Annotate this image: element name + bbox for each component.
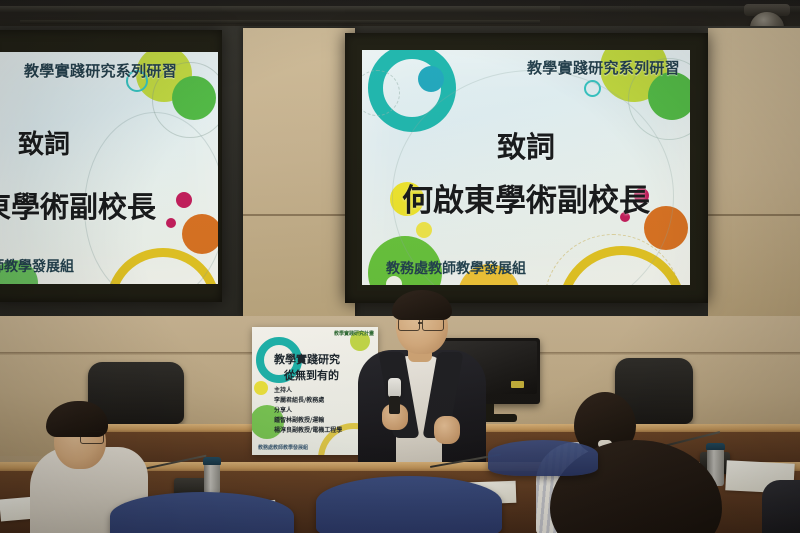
projection-screen-main: 教學實踐研究系列研習 致詞 何啟東學術副校長 教務處教師教學發展組 bbox=[345, 33, 708, 303]
monitor-badge-icon bbox=[511, 381, 524, 388]
slide-left: 教學實踐研究系列研習 致詞 東學術副校長 師教學發展組 bbox=[0, 52, 218, 284]
thermos-left-cap bbox=[203, 457, 221, 465]
slide-main-footer: 教務處教師教學發展組 bbox=[386, 258, 526, 278]
banner-title-line1: 教學實踐研究 bbox=[274, 351, 340, 367]
pillar-seam bbox=[243, 214, 355, 216]
audience-chair-blue-back bbox=[488, 440, 598, 476]
projection-screen-left: 教學實踐研究系列研習 致詞 東學術副校長 師教學發展組 bbox=[0, 30, 222, 302]
banner-body-line-3: 鍾智林副教授/運輸 bbox=[274, 415, 324, 424]
audience-chair-blue-left bbox=[110, 492, 294, 533]
banner-body-line-1: 李麗君組長/教務處 bbox=[274, 395, 324, 404]
wall-pillar-center bbox=[243, 28, 355, 316]
speaker-glasses-left bbox=[398, 318, 420, 331]
deco-circle-teal bbox=[418, 66, 444, 92]
speaker-figure bbox=[352, 282, 492, 487]
banner-deco-circle-yellow bbox=[254, 381, 268, 395]
thermos-left bbox=[204, 462, 220, 494]
lecture-hall-photo: 教學實踐研究系列研習 致詞 東學術副校長 師教學發展組 bbox=[0, 0, 800, 533]
attendee-far-right-shoulder bbox=[762, 480, 800, 533]
slide-main-line2: 何啟東學術副校長 bbox=[362, 175, 690, 220]
slide-main-header: 教學實踐研究系列研習 bbox=[527, 57, 680, 78]
audience-chair-blue-center bbox=[316, 476, 502, 533]
slide-main: 教學實踐研究系列研習 致詞 何啟東學術副校長 教務處教師教學發展組 bbox=[362, 50, 690, 285]
ceiling-rail bbox=[0, 6, 560, 13]
speaker-hand-right bbox=[434, 416, 460, 444]
banner-title-line2: 從無到有的 bbox=[284, 367, 339, 383]
speaker-glasses-right bbox=[422, 318, 444, 331]
handheld-microphone bbox=[388, 378, 401, 398]
attendee-left-glasses bbox=[80, 431, 104, 444]
banner-body-line-2: 分享人 bbox=[274, 405, 292, 414]
speaker-hair bbox=[392, 290, 452, 320]
slide-left-header: 教學實踐研究系列研習 bbox=[24, 60, 177, 81]
banner-body-line-0: 主持人 bbox=[274, 385, 292, 394]
banner-body-line-4: 楊淳良副教授/電機工程學 bbox=[274, 425, 342, 434]
slide-left-line1: 致詞 bbox=[18, 124, 70, 161]
slide-main-line1: 致詞 bbox=[362, 124, 690, 166]
speaker-glasses-bridge bbox=[418, 322, 422, 324]
slide-left-footer: 師教學發展組 bbox=[0, 256, 74, 276]
ceiling-rail-secondary bbox=[20, 20, 540, 24]
microphone-handle bbox=[389, 396, 400, 414]
pillar-seam-right bbox=[708, 214, 800, 216]
wall-pillar-right bbox=[708, 28, 800, 316]
banner-footer: 教務處教師教學發展組 bbox=[258, 444, 308, 451]
slide-left-line2: 東學術副校長 bbox=[0, 184, 156, 226]
